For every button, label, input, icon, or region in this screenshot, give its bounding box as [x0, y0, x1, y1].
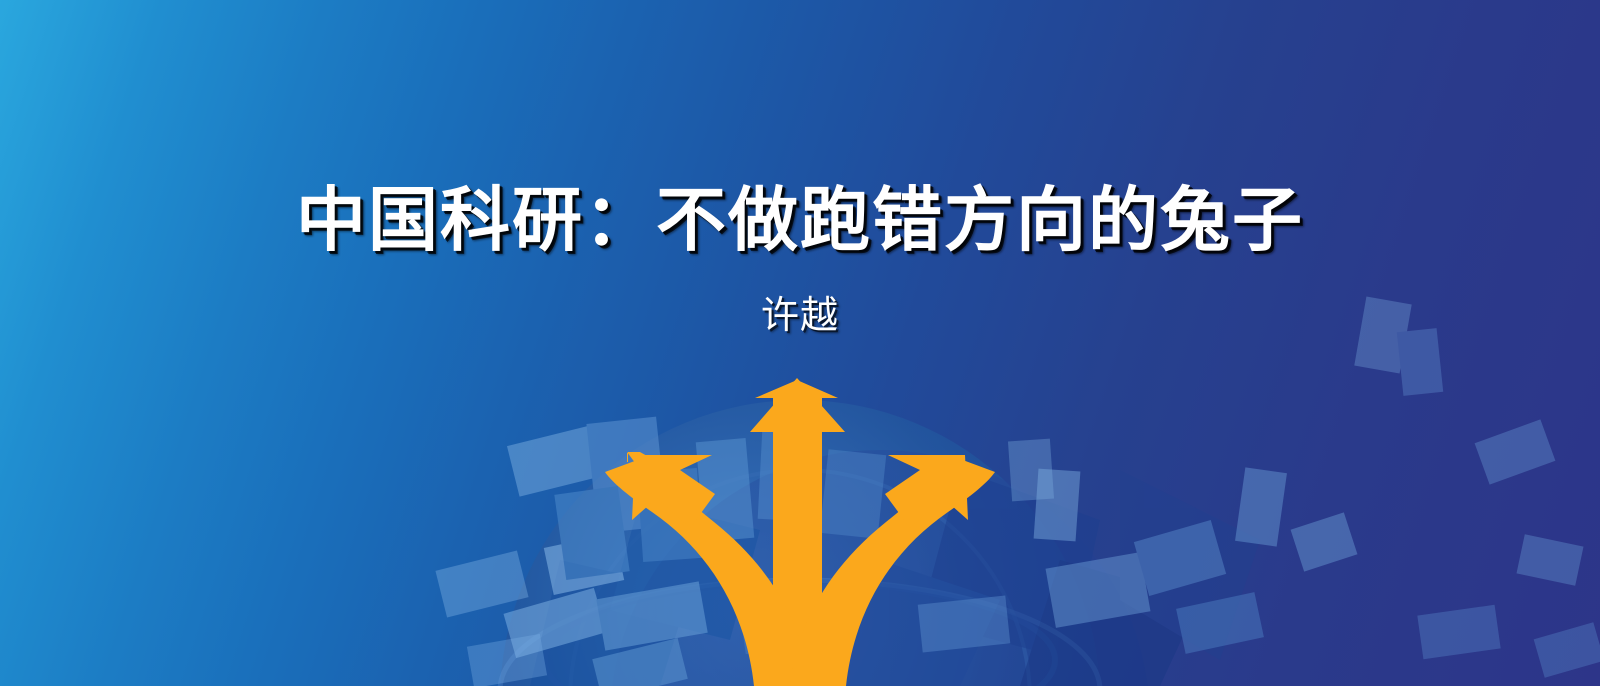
- tile-cluster-right: [918, 467, 1358, 653]
- background-graphic: [0, 0, 1600, 686]
- globe-facets: [530, 470, 1260, 686]
- page-title: 中国科研：不做跑错方向的兔子: [0, 178, 1600, 262]
- arrow-group: [605, 378, 995, 686]
- tile-cluster-outer: [435, 297, 1600, 686]
- arrow-up-shaft: [773, 392, 822, 686]
- arrow-up-head: [750, 378, 845, 452]
- arrow-up-left-band: [605, 456, 810, 686]
- arrow-up: [755, 380, 838, 686]
- author-subtitle: 许越: [0, 292, 1600, 340]
- arrow-up-right-band: [790, 456, 995, 686]
- slide-canvas: 中国科研：不做跑错方向的兔子 许越: [0, 0, 1600, 686]
- globe-shape: [500, 400, 1150, 686]
- arrow-up-left: [627, 452, 800, 686]
- tile-cluster-center: [696, 429, 886, 654]
- arrow-up-left-head: [632, 455, 715, 528]
- tile-cluster-left: [503, 417, 707, 686]
- arrow-up-right-head: [885, 455, 968, 528]
